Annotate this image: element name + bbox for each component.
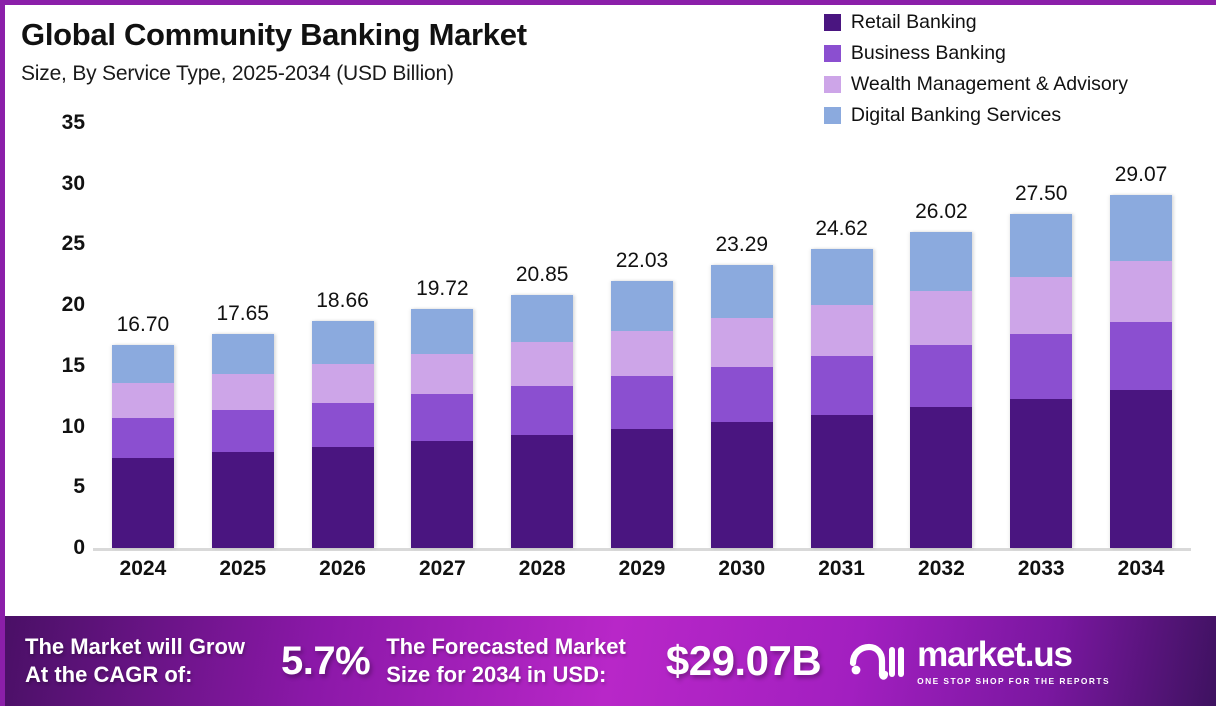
bar-segment[interactable] (312, 364, 374, 403)
bar-segment[interactable] (1110, 390, 1172, 548)
y-axis: 35302520151050 (15, 123, 85, 551)
bar-segment[interactable] (1010, 277, 1072, 334)
forecast-size-label-line1: The Forecasted Market (386, 633, 626, 661)
legend-swatch-icon (824, 14, 841, 31)
stacked-bar[interactable] (611, 281, 673, 549)
bar-segment[interactable] (511, 295, 573, 343)
bar-value-label: 29.07 (1115, 163, 1168, 187)
bar-value-label: 19.72 (416, 277, 469, 301)
bar-segment[interactable] (112, 418, 174, 458)
x-axis-line (93, 548, 1191, 551)
y-axis-tick: 30 (15, 172, 85, 196)
bar-segment[interactable] (511, 435, 573, 548)
x-axis-tick: 2028 (492, 557, 592, 591)
x-axis-tick: 2032 (892, 557, 992, 591)
y-axis-tick: 15 (15, 354, 85, 378)
x-axis-tick: 2029 (592, 557, 692, 591)
bar-segment[interactable] (711, 367, 773, 422)
legend-item-label: Retail Banking (851, 11, 977, 34)
bar-segment[interactable] (212, 410, 274, 452)
stacked-bar[interactable] (1010, 214, 1072, 548)
bar-segment[interactable] (212, 334, 274, 374)
bar-segment[interactable] (112, 383, 174, 418)
x-axis-tick: 2034 (1091, 557, 1191, 591)
market-us-logo-icon (849, 641, 905, 681)
legend-swatch-icon (824, 76, 841, 93)
bar-segment[interactable] (411, 309, 473, 354)
legend-swatch-icon (824, 107, 841, 124)
bar-column[interactable]: 18.66 (293, 123, 393, 548)
x-axis-tick: 2024 (93, 557, 193, 591)
chart-plot-area: 35302520151050 16.7017.6518.6619.7220.85… (93, 123, 1203, 551)
bar-segment[interactable] (1010, 214, 1072, 277)
bar-column[interactable]: 24.62 (792, 123, 892, 548)
footer-banner: The Market will Grow At the CAGR of: 5.7… (5, 616, 1216, 706)
bar-value-label: 27.50 (1015, 182, 1068, 206)
bar-segment[interactable] (711, 318, 773, 366)
bar-segment[interactable] (411, 354, 473, 395)
bar-column[interactable]: 19.72 (392, 123, 492, 548)
forecast-size-value: $29.07B (666, 637, 821, 685)
bar-segment[interactable] (1010, 399, 1072, 548)
x-axis-tick: 2033 (991, 557, 1091, 591)
bar-segment[interactable] (511, 386, 573, 435)
bar-segment[interactable] (811, 415, 873, 548)
bar-segment[interactable] (910, 345, 972, 407)
bar-column[interactable]: 27.50 (991, 123, 1091, 548)
stacked-bar[interactable] (112, 345, 174, 548)
infographic-root: Global Community Banking Market Size, By… (0, 0, 1216, 706)
bar-segment[interactable] (811, 305, 873, 356)
stacked-bar[interactable] (711, 265, 773, 548)
bar-segment[interactable] (511, 342, 573, 385)
cagr-label-line2: At the CAGR of: (25, 661, 245, 689)
legend-item[interactable]: Wealth Management & Advisory (824, 73, 1128, 96)
forecast-size-label: The Forecasted Market Size for 2034 in U… (386, 633, 626, 688)
chart-header: Global Community Banking Market Size, By… (21, 17, 721, 86)
cagr-label-line1: The Market will Grow (25, 633, 245, 661)
bar-segment[interactable] (910, 291, 972, 345)
page-title: Global Community Banking Market (21, 17, 721, 53)
chart-subtitle: Size, By Service Type, 2025-2034 (USD Bi… (21, 62, 721, 86)
bar-segment[interactable] (910, 407, 972, 548)
logo-text: market.us ONE STOP SHOP FOR THE REPORTS (917, 637, 1110, 686)
bar-value-label: 20.85 (516, 263, 569, 287)
bar-segment[interactable] (312, 447, 374, 548)
legend-item-label: Wealth Management & Advisory (851, 73, 1128, 96)
x-axis-labels: 2024202520262027202820292030203120322033… (93, 557, 1191, 591)
bar-segment[interactable] (910, 232, 972, 291)
legend-item[interactable]: Business Banking (824, 42, 1006, 65)
bar-segment[interactable] (112, 345, 174, 383)
bar-segment[interactable] (1010, 334, 1072, 399)
x-axis-tick: 2025 (193, 557, 293, 591)
stacked-bar[interactable] (312, 321, 374, 548)
bar-segment[interactable] (1110, 261, 1172, 321)
bar-segment[interactable] (1110, 195, 1172, 261)
logo-tagline: ONE STOP SHOP FOR THE REPORTS (917, 676, 1110, 686)
bar-column[interactable]: 16.70 (93, 123, 193, 548)
chart-legend: Retail BankingBusiness BankingWealth Man… (824, 11, 1128, 127)
forecast-size-label-line2: Size for 2034 in USD: (386, 661, 626, 689)
bar-segment[interactable] (611, 281, 673, 331)
bar-value-label: 26.02 (915, 200, 968, 224)
stacked-bar[interactable] (910, 232, 972, 548)
bar-column[interactable]: 20.85 (492, 123, 592, 548)
bar-value-label: 23.29 (716, 233, 769, 257)
bar-segment[interactable] (312, 321, 374, 364)
bar-group: 16.7017.6518.6619.7220.8522.0323.2924.62… (93, 123, 1191, 548)
cagr-label: The Market will Grow At the CAGR of: (25, 633, 245, 688)
stacked-bar[interactable] (411, 309, 473, 548)
bar-segment[interactable] (212, 374, 274, 411)
stacked-bar[interactable] (511, 295, 573, 548)
x-axis-tick: 2030 (692, 557, 792, 591)
y-axis-tick: 5 (15, 475, 85, 499)
y-axis-tick: 25 (15, 232, 85, 256)
legend-item[interactable]: Retail Banking (824, 11, 977, 34)
bar-column[interactable]: 17.65 (193, 123, 293, 548)
stacked-bar[interactable] (1110, 195, 1172, 548)
stacked-bar[interactable] (811, 249, 873, 548)
bar-segment[interactable] (312, 403, 374, 447)
y-axis-tick: 20 (15, 293, 85, 317)
logo-wordmark: market.us (917, 637, 1110, 672)
bar-segment[interactable] (212, 452, 274, 548)
bar-column[interactable]: 23.29 (692, 123, 792, 548)
bar-segment[interactable] (611, 376, 673, 428)
bar-segment[interactable] (112, 458, 174, 548)
bar-segment[interactable] (411, 441, 473, 548)
bar-segment[interactable] (611, 429, 673, 548)
y-axis-tick: 10 (15, 415, 85, 439)
x-axis-tick: 2031 (792, 557, 892, 591)
bar-segment[interactable] (711, 265, 773, 318)
bar-column[interactable]: 26.02 (892, 123, 992, 548)
y-axis-tick: 35 (15, 111, 85, 135)
legend-item-label: Business Banking (851, 42, 1006, 65)
legend-swatch-icon (824, 45, 841, 62)
bar-segment[interactable] (811, 356, 873, 414)
bar-segment[interactable] (811, 249, 873, 305)
bar-value-label: 17.65 (216, 302, 269, 326)
bar-column[interactable]: 22.03 (592, 123, 692, 548)
stacked-bar[interactable] (212, 334, 274, 548)
bar-value-label: 24.62 (815, 217, 868, 241)
bar-column[interactable]: 29.07 (1091, 123, 1191, 548)
x-axis-tick: 2027 (392, 557, 492, 591)
bar-segment[interactable] (1110, 322, 1172, 391)
cagr-value: 5.7% (281, 639, 370, 684)
bar-segment[interactable] (711, 422, 773, 548)
x-axis-tick: 2026 (293, 557, 393, 591)
y-axis-tick: 0 (15, 536, 85, 560)
bar-value-label: 18.66 (316, 289, 369, 313)
bar-value-label: 22.03 (616, 249, 669, 273)
market-us-logo[interactable]: market.us ONE STOP SHOP FOR THE REPORTS (849, 637, 1110, 686)
bar-segment[interactable] (611, 331, 673, 377)
bar-segment[interactable] (411, 394, 473, 441)
bar-value-label: 16.70 (117, 313, 170, 337)
